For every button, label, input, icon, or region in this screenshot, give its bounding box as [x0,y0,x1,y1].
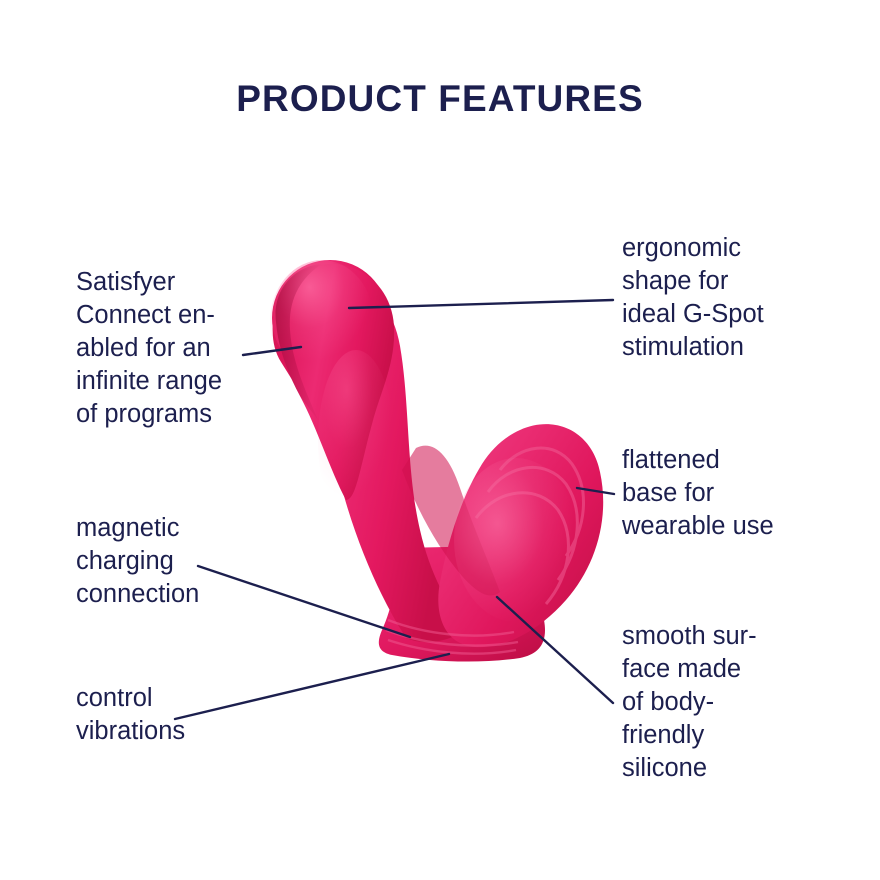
product-gloss-shaft [318,350,394,530]
callout-flattened-base: flattened base for wearable use [622,444,832,543]
product-gloss-lobe [454,458,578,622]
callout-ergonomic-shape: ergonomic shape for ideal G-Spot stimula… [622,232,832,364]
callout-satisfyer-connect: Satisfyer Connect en- abled for an infin… [76,266,286,431]
product-body [270,260,603,662]
callout-smooth-surface: smooth sur- face made of body- friendly … [622,620,832,785]
product-features-infographic: PRODUCT FEATURES [0,0,880,880]
callout-magnetic-charging: magnetic charging connection [76,512,286,611]
callout-control-vibrations: control vibrations [76,682,286,748]
